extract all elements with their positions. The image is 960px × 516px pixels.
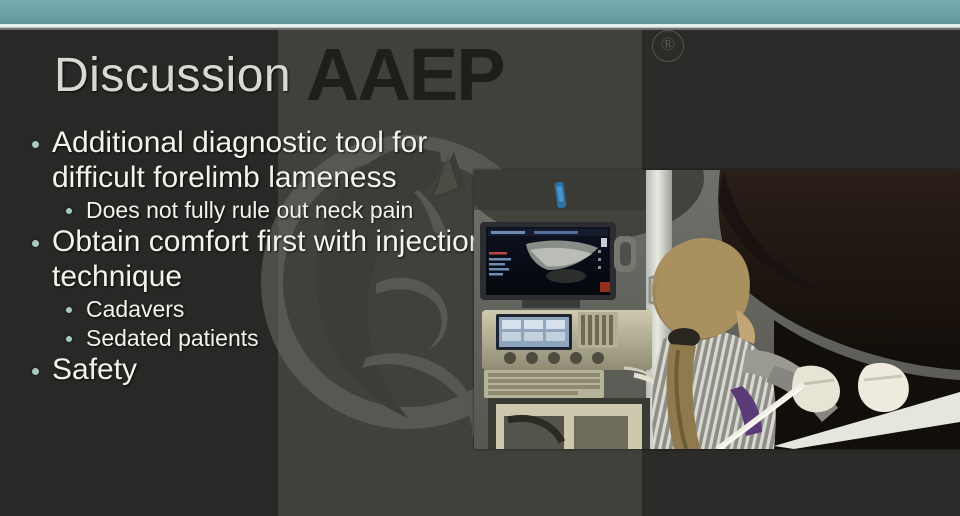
bullet-dot-icon xyxy=(66,336,72,342)
bullet-dot-icon xyxy=(32,240,39,247)
bullet-text: Additional diagnostic tool for difficult… xyxy=(52,126,427,194)
presentation-slide: AAEP ® Discussion Additional diagnostic … xyxy=(0,0,960,516)
bullet-dot-icon xyxy=(66,208,72,214)
top-bar-gradient xyxy=(0,0,960,24)
bullet-list: Additional diagnostic tool for difficult… xyxy=(22,126,492,389)
bullet-text: Cadavers xyxy=(86,296,184,322)
clinical-photo xyxy=(474,170,960,449)
bullet-text: Obtain comfort first with injection tech… xyxy=(52,225,486,293)
bullet-item-level2: Does not fully rule out neck pain xyxy=(22,196,492,224)
bullet-item-level2: Sedated patients xyxy=(22,324,492,352)
bullet-dot-icon xyxy=(32,141,39,148)
bullet-text: Safety xyxy=(52,353,137,386)
bullet-dot-icon xyxy=(66,307,72,313)
bullet-item-level1: Safety xyxy=(22,353,492,388)
slide-top-accent-bar xyxy=(0,0,960,24)
bullet-item-level1: Additional diagnostic tool for difficult… xyxy=(22,126,492,195)
bullet-item-level2: Cadavers xyxy=(22,295,492,323)
bullet-text: Does not fully rule out neck pain xyxy=(86,197,413,223)
bullet-item-level1: Obtain comfort first with injection tech… xyxy=(22,225,492,294)
registered-trademark-icon: ® xyxy=(652,30,684,62)
aaep-wordmark: AAEP xyxy=(306,38,504,112)
bullet-text: Sedated patients xyxy=(86,325,259,351)
slide-title: Discussion xyxy=(54,48,291,103)
bullet-dot-icon xyxy=(32,368,39,375)
